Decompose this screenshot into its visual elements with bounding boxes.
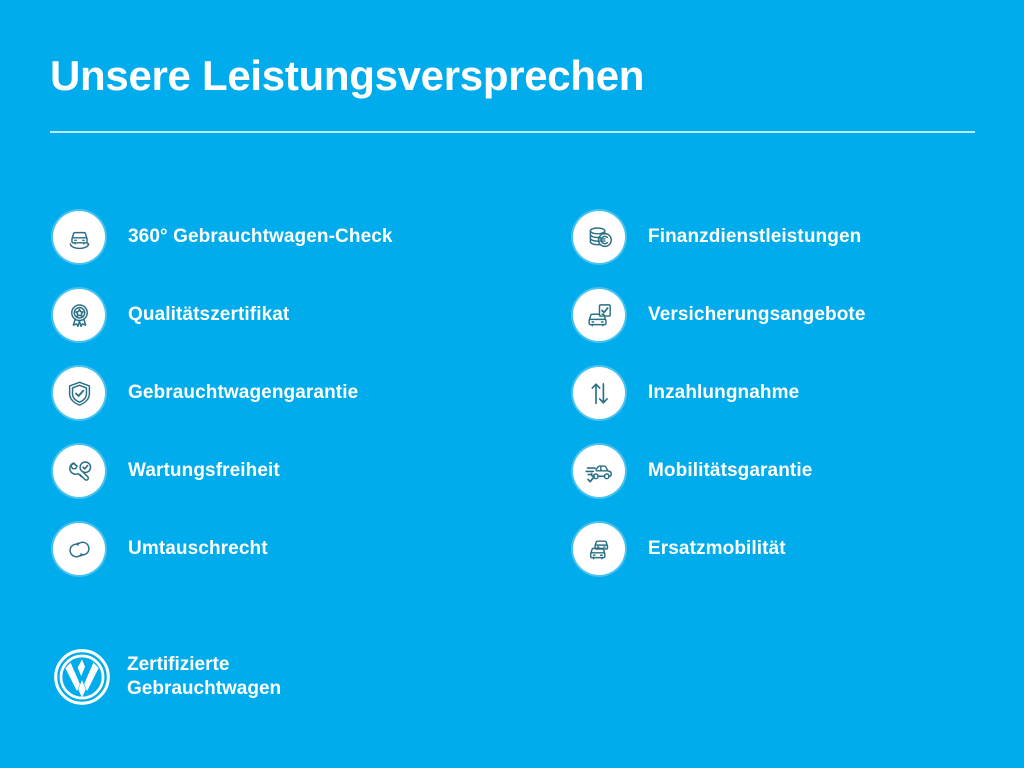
promise-item-gebrauchtwagen-check[interactable]: 360° Gebrauchtwagen-Check: [53, 198, 523, 276]
brand-line-1: Zertifizierte: [127, 654, 229, 675]
promise-label: 360° Gebrauchtwagen-Check: [128, 226, 393, 248]
promise-item-finanzdienstleistungen[interactable]: Finanzdienstleistungen: [573, 198, 1024, 276]
promise-label: Ersatzmobilität: [648, 538, 786, 560]
promise-item-wartungsfreiheit[interactable]: Wartungsfreiheit: [53, 432, 523, 510]
promises-right-column: Finanzdienstleistungen: [573, 198, 1024, 588]
promise-item-umtauschrecht[interactable]: Umtauschrecht: [53, 510, 523, 588]
promise-item-mobilitaetsgarantie[interactable]: Mobilitätsgarantie: [573, 432, 1024, 510]
promise-label: Mobilitätsgarantie: [648, 460, 812, 482]
coins-euro-icon: [573, 211, 625, 263]
promise-item-ersatzmobilitaet[interactable]: Ersatzmobilität: [573, 510, 1024, 588]
car-document-check-icon: [573, 289, 625, 341]
promise-label: Inzahlungnahme: [648, 382, 799, 404]
promise-label: Qualitätszertifikat: [128, 304, 289, 326]
promise-item-gebrauchtwagengarantie[interactable]: Gebrauchtwagengarantie: [53, 354, 523, 432]
page-title: Unsere Leistungsversprechen: [50, 52, 644, 100]
car-motion-icon: [573, 445, 625, 497]
promise-item-inzahlungnahme[interactable]: Inzahlungnahme: [573, 354, 1024, 432]
promise-item-versicherungsangebote[interactable]: Versicherungsangebote: [573, 276, 1024, 354]
wrench-check-icon: [53, 445, 105, 497]
brand-line-2: Gebrauchtwagen: [127, 678, 281, 699]
promise-poster: Unsere Leistungsversprechen: [0, 0, 1024, 768]
brand-text: Zertifizierte Gebrauchtwagen: [127, 653, 281, 702]
promise-item-qualitaetszertifikat[interactable]: Qualitätszertifikat: [53, 276, 523, 354]
promises-left-column: 360° Gebrauchtwagen-Check Qualitätszerti…: [53, 198, 523, 588]
shield-check-icon: [53, 367, 105, 419]
promise-label: Gebrauchtwagengarantie: [128, 382, 358, 404]
promise-label: Versicherungsangebote: [648, 304, 866, 326]
two-cars-icon: [573, 523, 625, 575]
exchange-arrows-icon: [53, 523, 105, 575]
promise-label: Wartungsfreiheit: [128, 460, 280, 482]
promise-label: Umtauschrecht: [128, 538, 268, 560]
title-divider: [50, 131, 975, 133]
award-ribbon-icon: [53, 289, 105, 341]
arrows-up-down-icon: [573, 367, 625, 419]
volkswagen-logo-icon: [53, 648, 111, 706]
brand-lockup: Zertifizierte Gebrauchtwagen: [53, 648, 281, 706]
promise-label: Finanzdienstleistungen: [648, 226, 861, 248]
car-360-check-icon: [53, 211, 105, 263]
